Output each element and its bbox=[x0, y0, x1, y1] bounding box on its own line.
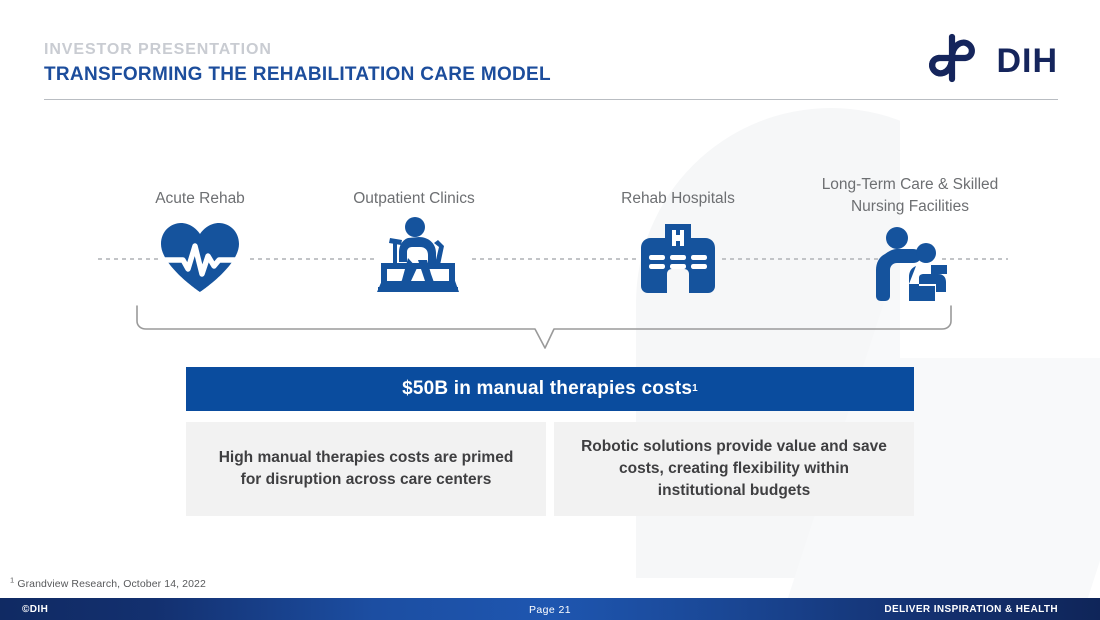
cost-banner: $50B in manual therapies costs1 bbox=[186, 367, 914, 411]
supporting-boxes: High manual therapies costs are primed f… bbox=[186, 422, 914, 516]
dih-infinity-cross-icon bbox=[921, 31, 983, 90]
stage-acute-rehab[interactable]: Acute Rehab bbox=[110, 188, 290, 294]
slide-canvas: INVESTOR PRESENTATION TRANSFORMING THE R… bbox=[0, 0, 1100, 620]
slide-footer: ©DIH Page 21 DELIVER INSPIRATION & HEALT… bbox=[0, 598, 1100, 620]
stage-rehab-hospitals[interactable]: Rehab Hospitals bbox=[588, 188, 768, 294]
footer-tagline: DELIVER INSPIRATION & HEALTH bbox=[884, 604, 1058, 615]
footnote-marker: 1 bbox=[10, 576, 14, 585]
header-divider bbox=[44, 99, 1058, 100]
heart-ecg-icon bbox=[110, 216, 290, 294]
supporting-box-left-text: High manual therapies costs are primed f… bbox=[208, 447, 524, 491]
page-title: TRANSFORMING THE REHABILITATION CARE MOD… bbox=[44, 63, 551, 87]
source-footnote: 1 Grandview Research, October 14, 2022 bbox=[10, 578, 206, 590]
caregiver-wheelchair-icon bbox=[802, 224, 1018, 302]
cost-banner-text: $50B in manual therapies costs bbox=[402, 378, 692, 400]
hospital-building-icon bbox=[588, 216, 768, 294]
stage-label-rehab-hospitals: Rehab Hospitals bbox=[588, 188, 768, 210]
stage-long-term-care[interactable]: Long-Term Care & Skilled Nursing Facilit… bbox=[802, 174, 1018, 302]
dih-logo: DIH bbox=[921, 31, 1058, 90]
stage-label-long-term-care: Long-Term Care & Skilled Nursing Facilit… bbox=[802, 174, 1018, 218]
eyebrow-label: INVESTOR PRESENTATION bbox=[44, 40, 551, 60]
supporting-box-left: High manual therapies costs are primed f… bbox=[186, 422, 546, 516]
supporting-box-right-text: Robotic solutions provide value and save… bbox=[576, 436, 892, 502]
logo-wordmark: DIH bbox=[996, 44, 1058, 78]
slide-header: INVESTOR PRESENTATION TRANSFORMING THE R… bbox=[44, 40, 551, 87]
stage-outpatient-clinics[interactable]: Outpatient Clinics bbox=[324, 188, 504, 294]
footnote-text: Grandview Research, October 14, 2022 bbox=[17, 578, 206, 590]
supporting-box-right: Robotic solutions provide value and save… bbox=[554, 422, 914, 516]
grouping-bracket bbox=[130, 304, 970, 361]
treadmill-walking-person-icon bbox=[324, 216, 504, 294]
stage-label-acute-rehab: Acute Rehab bbox=[110, 188, 290, 210]
stage-label-outpatient-clinics: Outpatient Clinics bbox=[324, 188, 504, 210]
